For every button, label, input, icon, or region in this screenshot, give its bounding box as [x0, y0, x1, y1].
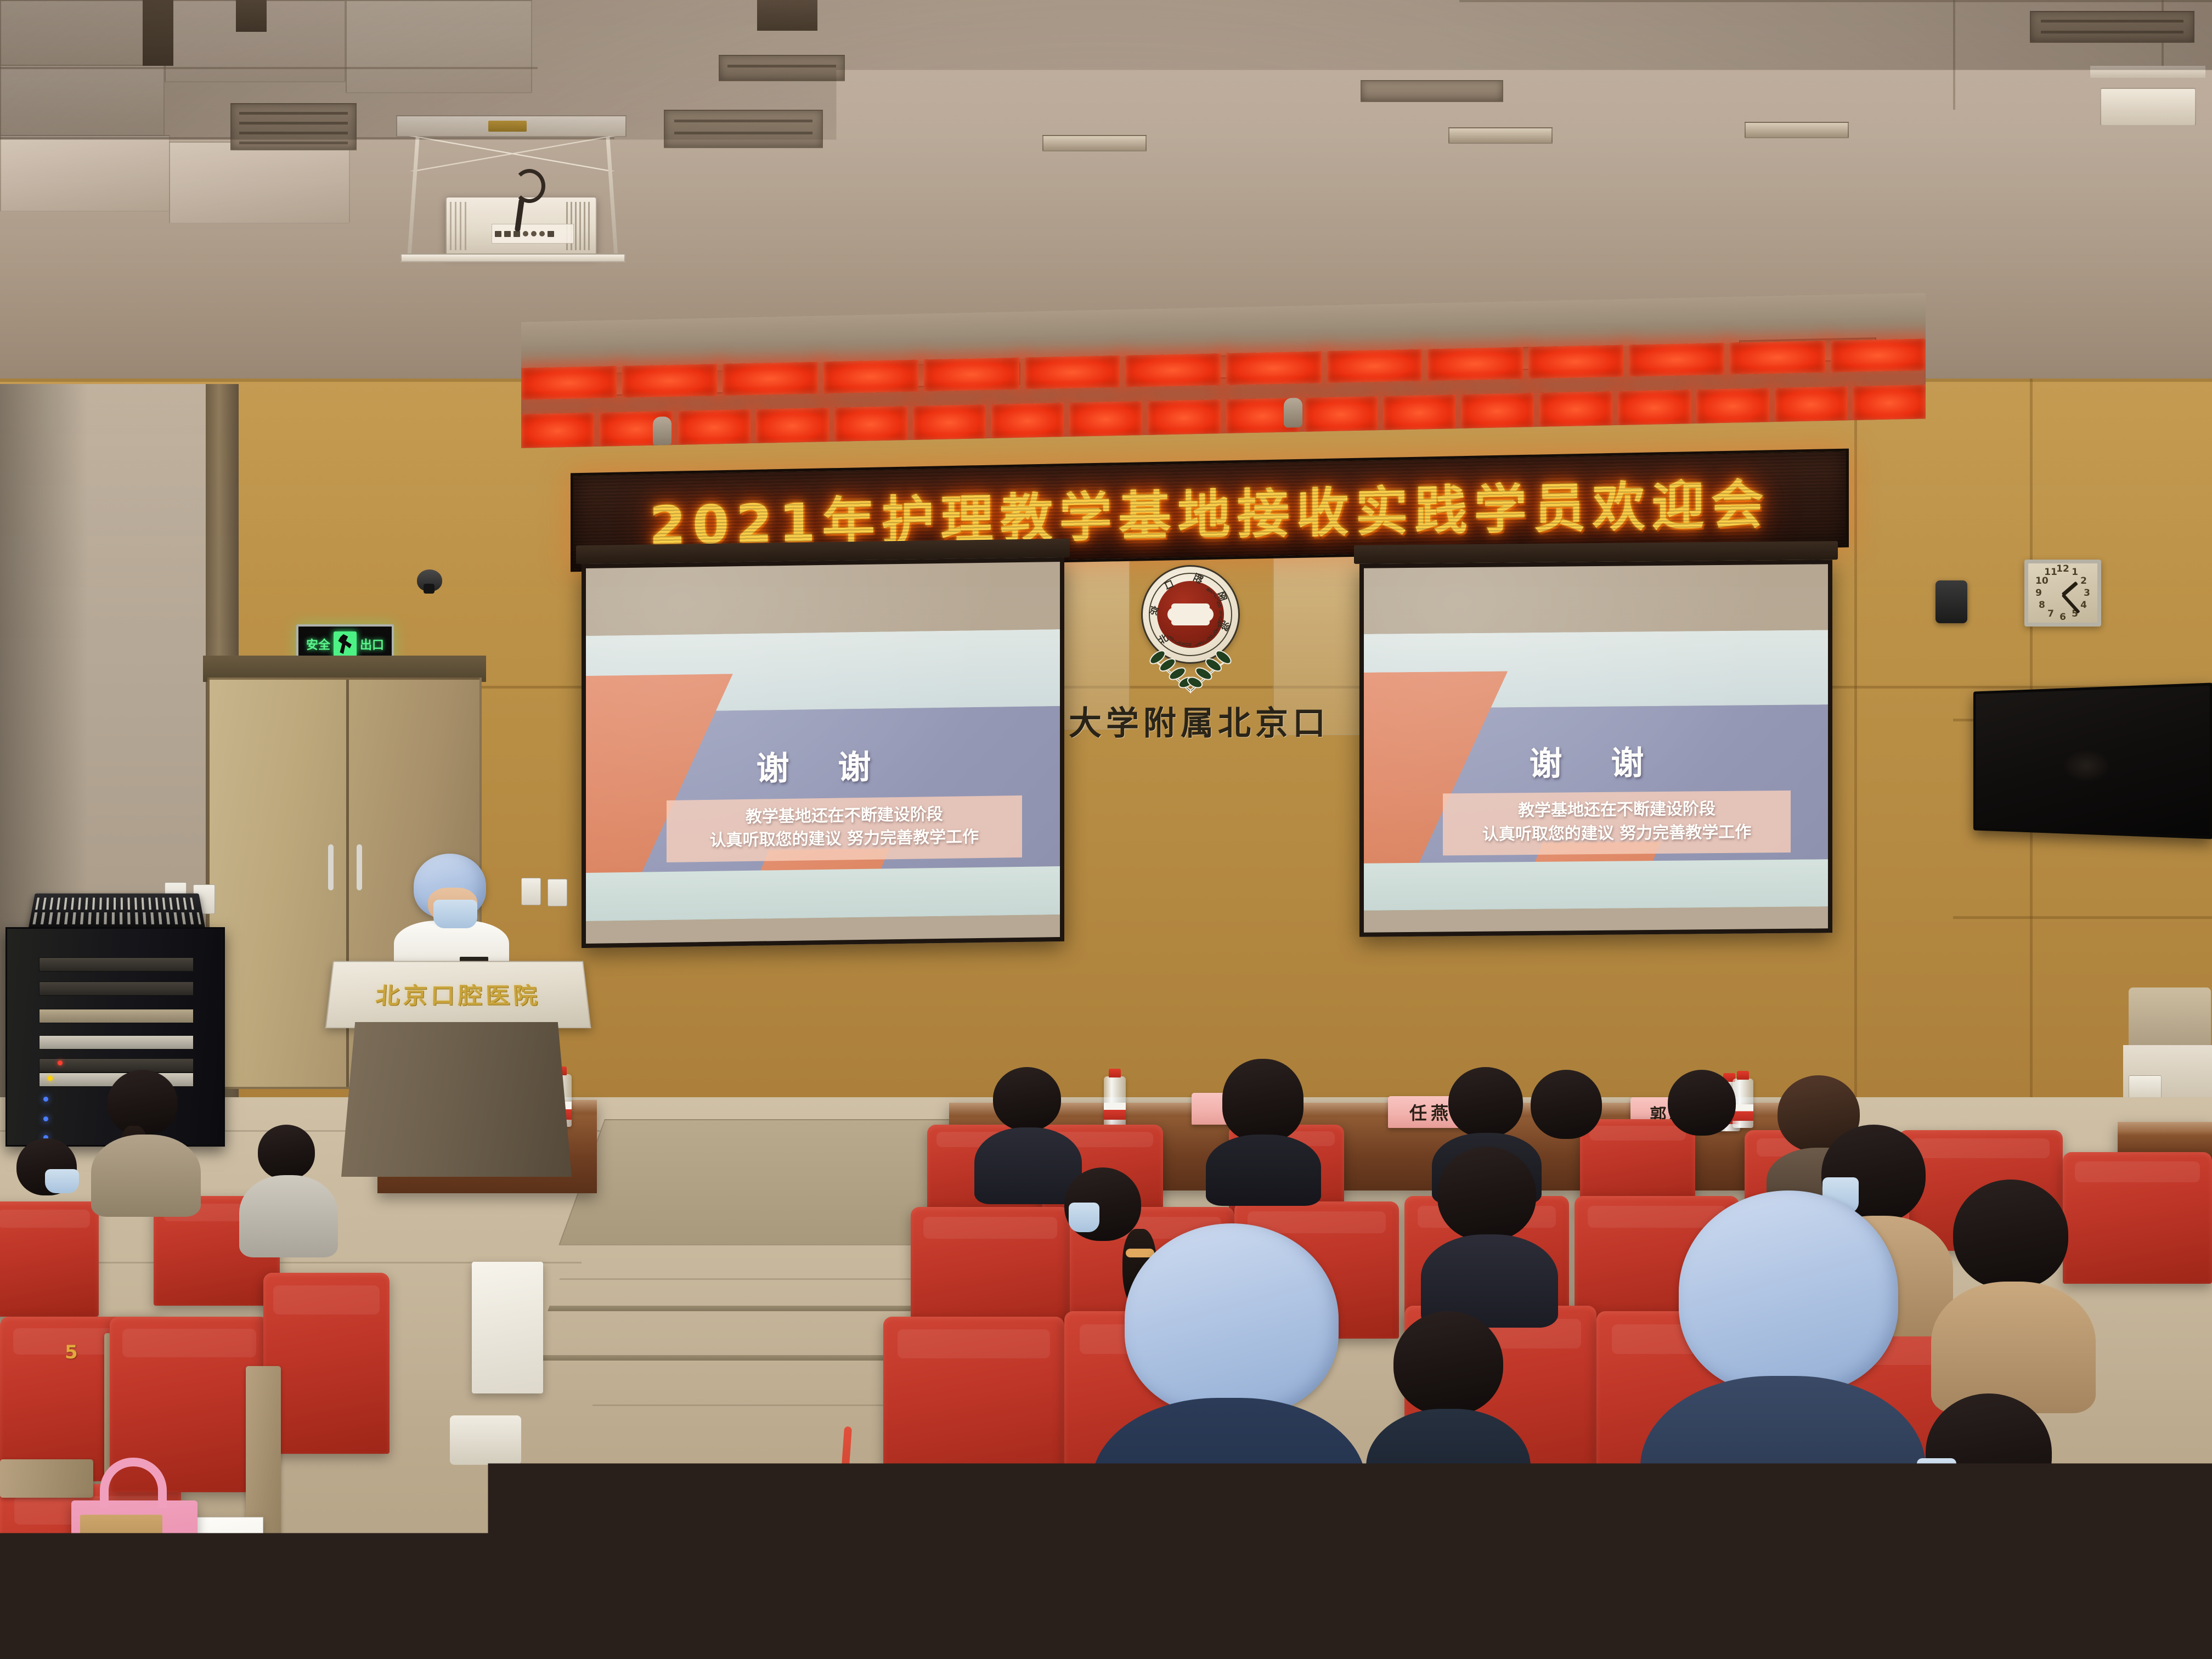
ceiling-projector — [384, 104, 642, 285]
security-camera-icon — [417, 569, 442, 591]
face-mask — [45, 1169, 79, 1193]
wall-clock: 121234567891011 — [2024, 560, 2101, 627]
slide-subtitle-line2: 认真听取您的建议 努力完善教学工作 — [675, 825, 1013, 853]
exit-sign-left-text: 安全 — [306, 635, 330, 653]
hospital-wall-name: 科大学附属北京口 — [1031, 697, 1372, 744]
right-rail — [2129, 988, 2211, 1053]
surgical-cap — [1125, 1223, 1339, 1415]
hospital-emblem-logo: 北京口腔医院BEIJING STOMATOLOGICAL HOSPITAL — [1119, 565, 1262, 697]
face-mask — [1917, 1458, 1956, 1502]
water-bottle-2 — [1104, 1076, 1126, 1127]
seat-cushion[interactable] — [801, 1607, 1053, 1659]
clock-numeral: 12 — [2056, 563, 2069, 574]
slide-subtitle-line1: 教学基地还在不断建设阶段 — [1452, 797, 1782, 823]
clock-numeral: 1 — [2072, 567, 2078, 578]
clock-numeral: 6 — [2059, 612, 2066, 623]
clock-numeral: 8 — [2039, 600, 2045, 611]
podium-sign-text: 北京口腔医院 — [375, 978, 542, 1010]
seat[interactable] — [1964, 1498, 2212, 1659]
secondary-ceiling-projector — [2090, 66, 2205, 137]
slide-title-right: 谢 谢 — [1364, 735, 1828, 787]
projector-brand-badge — [488, 121, 527, 132]
audio-mixing-console[interactable] — [29, 894, 205, 928]
white-bag — [472, 1262, 543, 1393]
slide-subtitle-right: 教学基地还在不断建设阶段 认真听取您的建议 努力完善教学工作 — [1443, 791, 1791, 856]
slide-subtitle-left: 教学基地还在不断建设阶段 认真听取您的建议 努力完善教学工作 — [667, 795, 1022, 862]
tote-contents — [80, 1515, 162, 1553]
clock-numeral: 11 — [2044, 567, 2057, 578]
wall-speaker-left — [1936, 580, 1967, 623]
clock-numeral: 7 — [2047, 608, 2054, 619]
slide-content: 谢 谢 教学基地还在不断建设阶段 认真听取您的建议 努力完善教学工作 — [586, 629, 1060, 921]
laurel-wreath-icon — [1127, 635, 1254, 696]
exit-sign-right-text: 出口 — [360, 635, 384, 653]
right-projection-screen: 谢 谢 教学基地还在不断建设阶段 认真听取您的建议 努力完善教学工作 — [1359, 560, 1832, 937]
face-mask — [1069, 1203, 1099, 1232]
name-placard-3-label: 任燕 — [1409, 1099, 1452, 1125]
running-man-icon — [334, 631, 357, 657]
armrest — [0, 1459, 93, 1498]
slide-subtitle-line2: 认真听取您的建议 努力完善教学工作 — [1452, 821, 1782, 847]
auditorium-photo: 2021年护理教学基地接收实践学员欢迎会 北京口腔医院BEIJING STOMA… — [0, 0, 2212, 1659]
wall-mounted-tv[interactable] — [1973, 682, 2212, 839]
clock-numeral: 4 — [2080, 600, 2087, 611]
clock-numeral: 3 — [2084, 588, 2090, 599]
clock-numeral: 2 — [2080, 575, 2087, 586]
pink-tote-bag — [71, 1500, 198, 1643]
seat[interactable] — [2063, 1152, 2212, 1284]
podium: 北京口腔医院 — [329, 957, 587, 1177]
slide-title-left: 谢 谢 — [586, 738, 1060, 792]
seat-cushion[interactable] — [1476, 1618, 1734, 1659]
seat[interactable] — [883, 1317, 1064, 1498]
clock-minute-hand — [2062, 594, 2080, 614]
speaker-at-podium — [394, 849, 509, 975]
seat-number-5: 5 — [65, 1341, 78, 1363]
floor-item — [450, 1415, 521, 1465]
seat[interactable] — [263, 1273, 390, 1454]
paper-stack — [192, 1517, 263, 1643]
surgical-cap — [1679, 1190, 1898, 1393]
left-projection-screen: 谢 谢 教学基地还在不断建设阶段 认真听取您的建议 努力完善教学工作 — [582, 557, 1064, 948]
white-shoe — [307, 1569, 373, 1618]
seat-number-3: 3 — [19, 1542, 32, 1564]
clock-numeral: 9 — [2035, 588, 2042, 599]
speaker-face-mask — [433, 900, 477, 928]
light-switch-panel-4[interactable] — [548, 879, 567, 906]
light-switch-panel-3[interactable] — [521, 878, 541, 905]
seat[interactable] — [0, 1201, 99, 1317]
slide-content: 谢 谢 教学基地还在不断建设阶段 认真听取您的建议 努力完善教学工作 — [1364, 630, 1828, 911]
